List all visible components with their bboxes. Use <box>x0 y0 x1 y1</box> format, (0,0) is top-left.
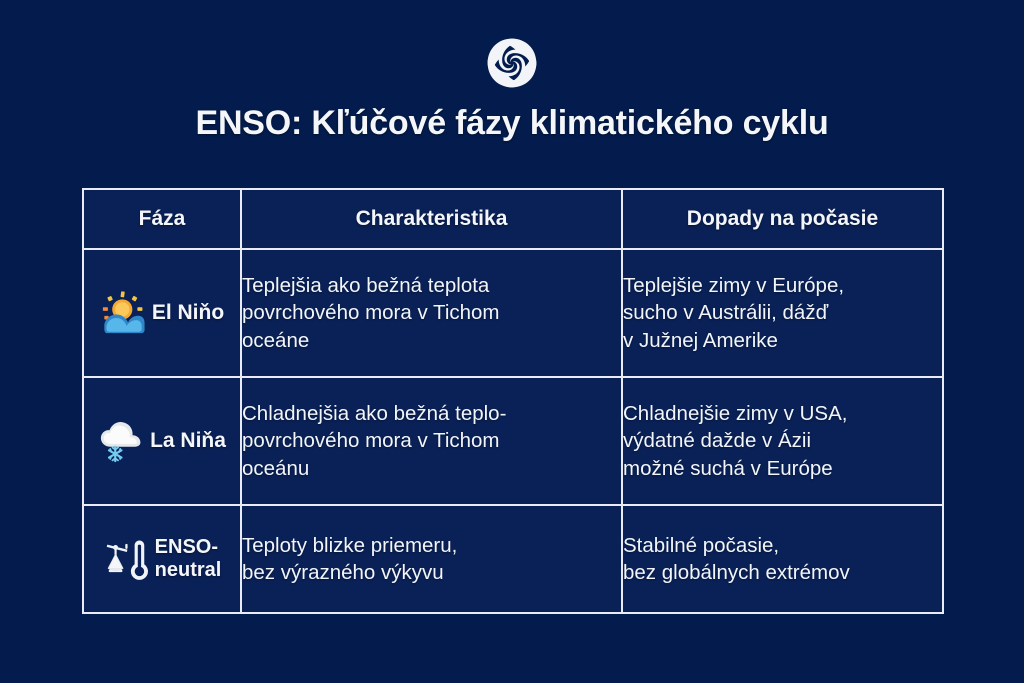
brand-logo <box>0 34 1024 92</box>
phase-label: ENSO- neutral <box>155 536 222 582</box>
enso-phases-table: Fáza Charakteristika Dopady na počasie <box>82 188 944 614</box>
impact-cell: Teplejšie zimy v Európe, sucho v Austrál… <box>622 249 943 377</box>
table-row: ENSO- neutral Teploty blizke priemeru, b… <box>83 505 943 613</box>
phase-cell-el-nino: El Niňo <box>83 249 241 377</box>
column-header-characteristic: Charakteristika <box>241 189 622 249</box>
sun-behind-wave-icon <box>100 290 146 336</box>
characteristic-cell: Teploty blizke priemeru, bez výrazného v… <box>241 505 622 613</box>
characteristic-cell: Chladnejšia ako bežná teplo- povrchového… <box>241 377 622 505</box>
phase-cell-enso-neutral: ENSO- neutral <box>83 505 241 613</box>
phase-label: La Niňa <box>150 429 226 453</box>
column-header-impact: Dopady na počasie <box>622 189 943 249</box>
table-header: Fáza Charakteristika Dopady na počasie <box>83 189 943 249</box>
spiral-cyclone-icon <box>483 34 541 92</box>
page-title: ENSO: Kľúčové fázy klimatického cyklu <box>0 104 1024 143</box>
column-header-phase: Fáza <box>83 189 241 249</box>
impact-cell: Stabilné počasie, bez globálnych extrémo… <box>622 505 943 613</box>
balance-scale-thermometer-icon <box>103 536 149 582</box>
table-row: El Niňo Teplejšia ako bežná teplota povr… <box>83 249 943 377</box>
table-header-row: Fáza Charakteristika Dopady na počasie <box>83 189 943 249</box>
characteristic-cell: Teplejšia ako bežná teplota povrchového … <box>241 249 622 377</box>
table-body: El Niňo Teplejšia ako bežná teplota povr… <box>83 249 943 613</box>
cloud-with-snowflake-icon <box>98 418 144 464</box>
phase-label: El Niňo <box>152 301 224 325</box>
impact-cell: Chladnejšie zimy v USA, výdatné dažde v … <box>622 377 943 505</box>
table-row: La Niňa Chladnejšia ako bežná teplo- pov… <box>83 377 943 505</box>
phase-cell-la-nina: La Niňa <box>83 377 241 505</box>
